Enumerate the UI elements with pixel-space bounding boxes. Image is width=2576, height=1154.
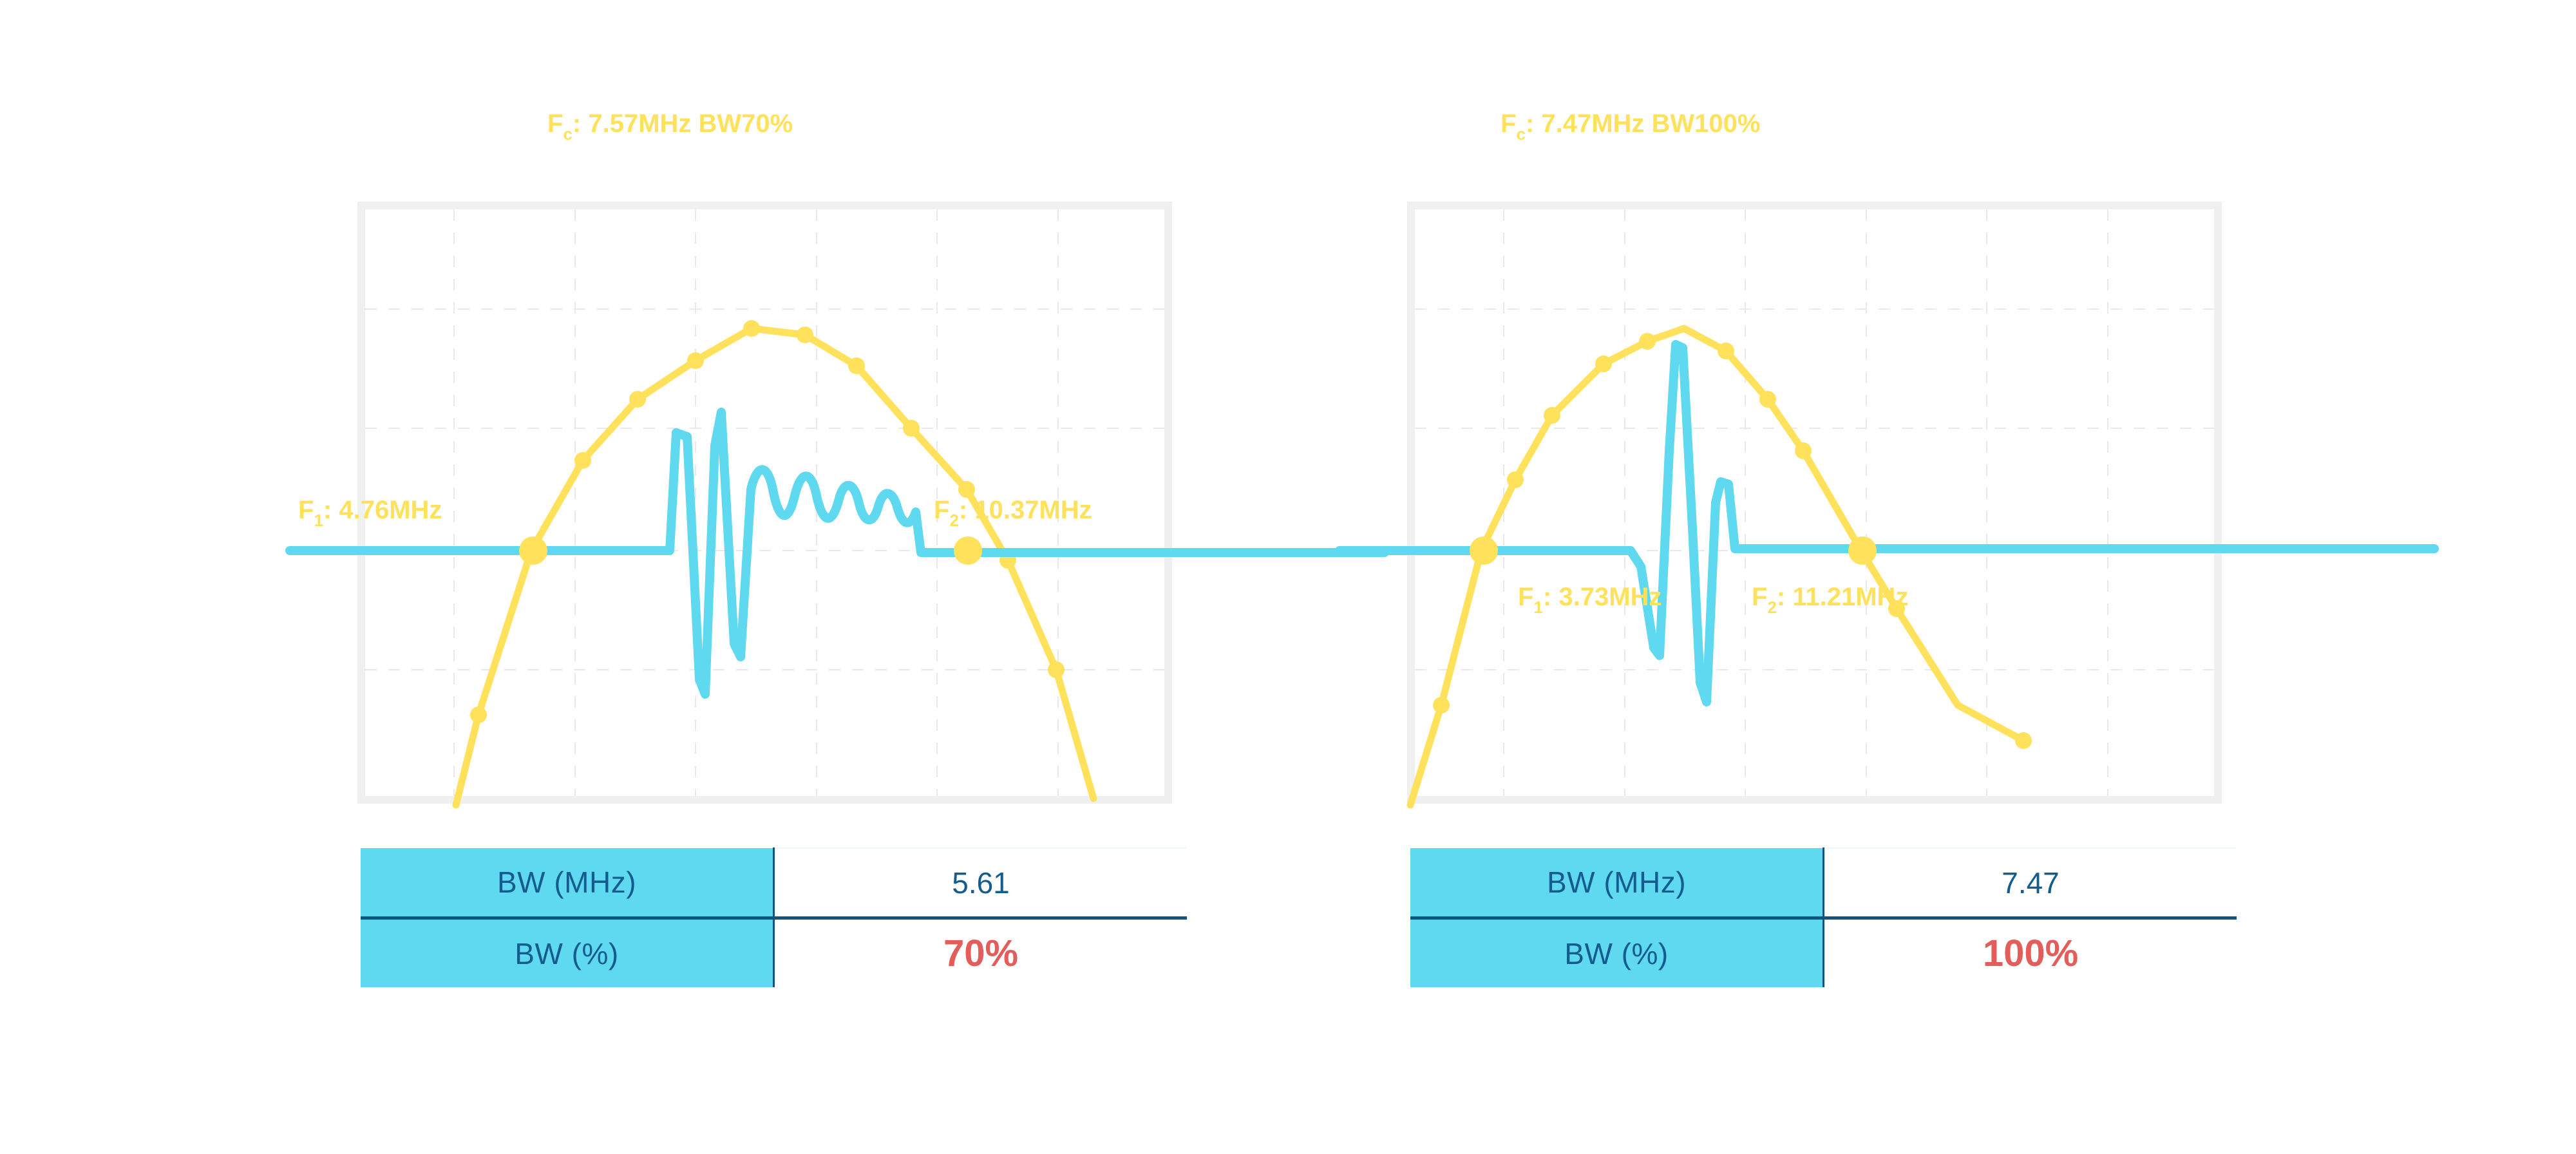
label-fc-right: Fc: 7.47MHz BW100% — [1501, 109, 1760, 144]
bw-pct-header: BW (%) — [361, 918, 774, 988]
bw-pct-value: 100% — [1824, 918, 2237, 988]
table-row: BW (%) 70% — [361, 918, 1187, 988]
bw-table-right: BW (MHz) 7.47 BW (%) 100% — [1410, 847, 2237, 987]
bw-table-right-wrap: BW (MHz) 7.47 BW (%) 100% — [1410, 847, 2235, 987]
table-row: BW (%) 100% — [1410, 918, 2237, 988]
panel-bw100: Fc: 7.47MHz BW100% F1: 3.73MHz F2: 11.21… — [1340, 0, 2434, 1154]
bw-table-left-wrap: BW (MHz) 5.61 BW (%) 70% — [361, 847, 1185, 987]
panel-bw70: Fc: 7.57MHz BW70% F1: 4.76MHz F2: 10.37M… — [290, 0, 1385, 1154]
table-row: BW (MHz) 5.61 — [361, 848, 1187, 918]
table-row: BW (MHz) 7.47 — [1410, 848, 2237, 918]
label-fc-left: Fc: 7.57MHz BW70% — [547, 109, 793, 144]
bw-pct-value: 70% — [774, 918, 1188, 988]
bw-mhz-header: BW (MHz) — [361, 848, 774, 918]
plot-frame-right — [1407, 202, 2222, 804]
bw-mhz-value: 5.61 — [774, 848, 1188, 918]
bw-pct-header: BW (%) — [1410, 918, 1824, 988]
bw-mhz-header: BW (MHz) — [1410, 848, 1824, 918]
plot-frame-left — [357, 202, 1172, 804]
bw-table-left: BW (MHz) 5.61 BW (%) 70% — [361, 847, 1187, 987]
bw-mhz-value: 7.47 — [1824, 848, 2237, 918]
